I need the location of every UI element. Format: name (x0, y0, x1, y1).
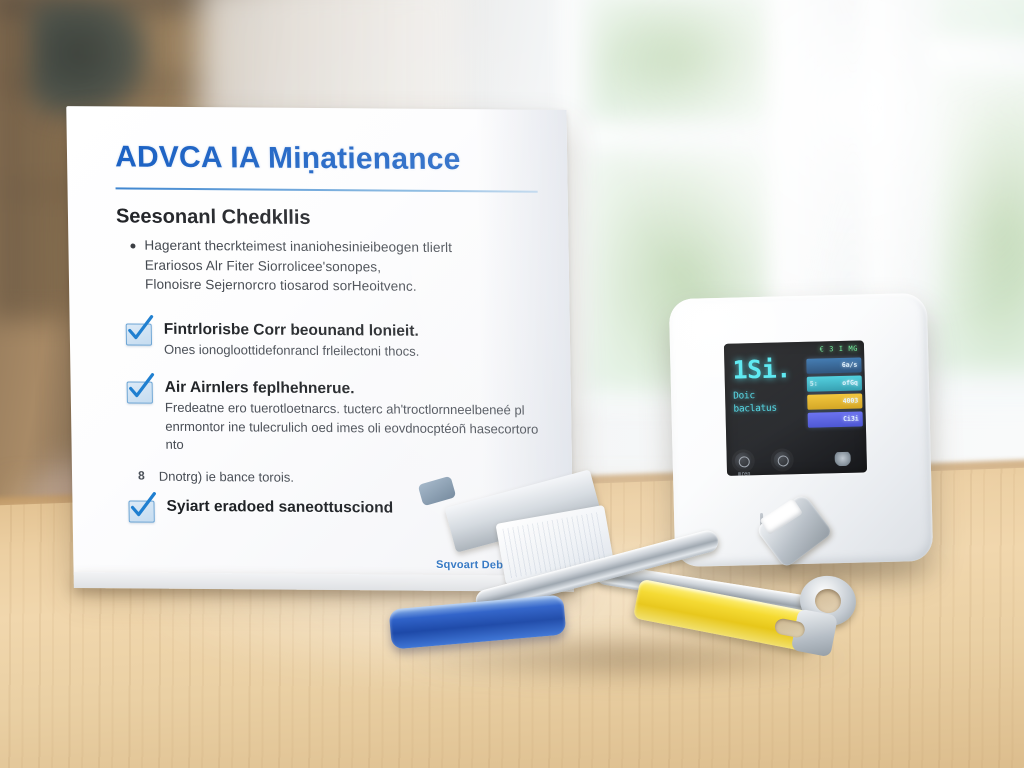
checklist-item-heading: Syiart eradoed saneottusciond (166, 497, 393, 517)
background-shelf-object-dark (30, 0, 150, 120)
card-title: ADVCA IA Miṇatienance (115, 140, 538, 177)
checklist-item-body: Fredeatne ero tuerotloetnarcs. tucterc a… (165, 399, 542, 457)
checklist-item-heading: Air Airnlers feplhehnerue. (165, 379, 541, 400)
temperature-reading: 1Si. (732, 356, 805, 383)
tile-label: 6a/s (842, 361, 858, 369)
tile-label: ofGq (842, 379, 858, 387)
intro-text: Hagerant thecrkteimest inaniohesinieibeo… (144, 236, 453, 297)
screen-tile[interactable]: 4003 (807, 393, 862, 409)
status-indicator: € 3 I MG (819, 345, 858, 354)
intro-line-3: Flonoisre Sejernorcro tiosarod sorHeoitv… (145, 275, 453, 297)
yellow-wrench-metal-cap (791, 608, 838, 657)
numbered-line-number: 8 (138, 468, 145, 482)
checkbox-checked-icon[interactable] (126, 323, 152, 345)
checklist-item[interactable]: Fintrlorisbe Corr beounand lonieit. Ones… (126, 320, 541, 362)
home-icon[interactable] (835, 452, 851, 466)
screen-tile[interactable]: 5: ofGq (807, 376, 862, 392)
power-icon-label: mren (732, 471, 756, 476)
checklist-item-body: Ones ionogloottidefonrancl frleilectoni … (164, 340, 419, 360)
title-divider-rule (116, 187, 538, 192)
screen-icon-row[interactable]: mren (735, 451, 791, 469)
tile-label: 4003 (843, 397, 859, 405)
checkbox-checked-icon[interactable] (128, 500, 154, 522)
tile-label: Ci3i (843, 415, 859, 423)
intro-line-1: Hagerant thecrkteimest inaniohesinieibeo… (144, 236, 452, 258)
card-subtitle: Seesonanl Chedkllis (116, 205, 538, 231)
checklist-item[interactable]: Air Airnlers feplhehnerue. Fredeatne ero… (127, 379, 542, 458)
screen-sub-line-2: baclatus (733, 402, 805, 417)
thermostat-screen[interactable]: € 3 I MG 1Si. Doic baclatus 6a/s 5: ofGq… (724, 340, 867, 475)
checkbox-checked-icon[interactable] (127, 382, 153, 404)
screen-tile[interactable]: 6a/s (806, 358, 861, 374)
fan-icon[interactable] (774, 451, 791, 468)
checklist-item-heading: Fintrlorisbe Corr beounand lonieit. (164, 320, 419, 340)
screen-tile-list[interactable]: 6a/s 5: ofGq 4003 Ci3i (806, 358, 863, 431)
screen-left-panel: 1Si. Doic baclatus (732, 356, 805, 416)
intro-bullet: Hagerant thecrkteimest inaniohesinieibeo… (130, 236, 539, 298)
intro-line-2: Erariosos Alr Fiter Siorrolicee'sonopes, (145, 255, 453, 277)
power-icon[interactable]: mren (735, 452, 752, 469)
tile-left-label: 5: (810, 380, 818, 388)
bullet-dot-icon (130, 244, 135, 249)
scene-stage: ADVCA IA Miṇatienance Seesonanl Chedklli… (0, 0, 1024, 768)
numbered-line-text: Dnotrg) ie bance torois. (159, 468, 294, 484)
tool-group (380, 520, 880, 710)
numbered-line: 8 Dnotrg) ie bance torois. (138, 468, 542, 486)
screen-tile[interactable]: Ci3i (808, 411, 863, 427)
